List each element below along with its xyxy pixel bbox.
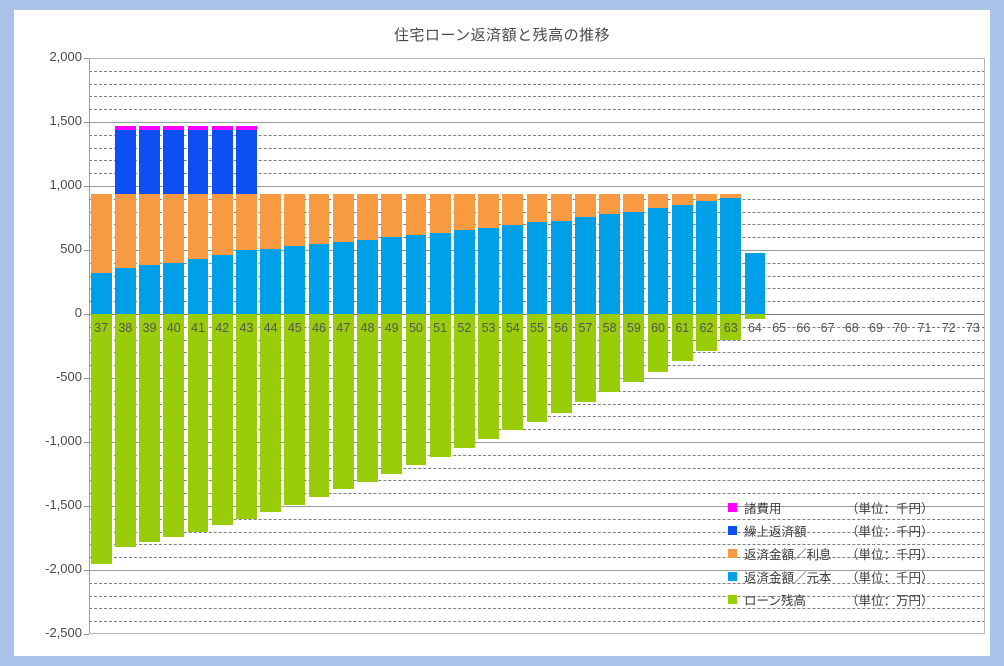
bar-segment-balance: [284, 314, 305, 505]
x-axis-tick-label: 45: [283, 321, 307, 335]
bar-segment-principal: [527, 222, 548, 314]
x-axis-tick-label: 48: [355, 321, 379, 335]
x-axis-tick-label: 68: [840, 321, 864, 335]
bar-segment-principal: [260, 249, 281, 314]
x-axis-tick-label: 52: [452, 321, 476, 335]
x-axis-tick-label: 57: [573, 321, 597, 335]
bar-column[interactable]: [696, 58, 717, 634]
bar-segment-interest: [454, 194, 475, 230]
bar-segment-cost: [139, 126, 160, 130]
bar-segment-balance: [260, 314, 281, 512]
bar-segment-balance: [163, 314, 184, 537]
x-axis-tick-label: 46: [307, 321, 331, 335]
x-axis-tick-label: 41: [186, 321, 210, 335]
bar-column[interactable]: [309, 58, 330, 634]
bar-segment-interest: [648, 194, 669, 209]
x-axis-tick-label: 42: [210, 321, 234, 335]
bar-segment-interest: [212, 194, 233, 255]
legend-unit: （単位：千円）: [846, 544, 934, 563]
bar-segment-cost: [212, 126, 233, 130]
bar-column[interactable]: [284, 58, 305, 634]
legend-unit: （単位：万円）: [846, 590, 934, 609]
bar-column[interactable]: [962, 58, 983, 634]
y-axis-tick-mark: [84, 250, 89, 251]
bar-segment-principal: [115, 268, 136, 314]
bar-segment-balance: [115, 314, 136, 547]
legend-swatch-icon: [728, 526, 737, 535]
bar-segment-principal: [212, 255, 233, 314]
x-axis-tick-label: 40: [162, 321, 186, 335]
y-axis-tick-mark: [84, 314, 89, 315]
x-axis-tick-label: 62: [694, 321, 718, 335]
bar-segment-interest: [672, 194, 693, 206]
bar-segment-interest: [236, 194, 257, 250]
bar-segment-principal: [672, 205, 693, 314]
y-axis-tick-mark: [84, 58, 89, 59]
bar-column[interactable]: [575, 58, 596, 634]
bar-segment-principal: [188, 259, 209, 314]
bar-segment-interest: [260, 194, 281, 249]
bar-segment-balance: [333, 314, 354, 489]
bar-segment-interest: [91, 194, 112, 273]
bar-column[interactable]: [91, 58, 112, 634]
legend-swatch-icon: [728, 503, 737, 512]
bar-segment-interest: [430, 194, 451, 232]
bar-segment-prepay: [163, 130, 184, 194]
legend-unit: （単位：千円）: [846, 498, 934, 517]
x-axis-tick-label: 43: [234, 321, 258, 335]
x-axis-tick-label: 51: [428, 321, 452, 335]
bar-segment-principal: [648, 208, 669, 314]
bar-column[interactable]: [938, 58, 959, 634]
bar-column[interactable]: [623, 58, 644, 634]
x-axis-tick-label: 67: [815, 321, 839, 335]
y-axis-tick-label: -2,000: [14, 561, 82, 576]
bar-column[interactable]: [406, 58, 427, 634]
y-axis-tick-label: 0: [14, 305, 82, 320]
x-axis-tick-label: 63: [719, 321, 743, 335]
bar-segment-interest: [575, 194, 596, 218]
legend-item: 返済金額／元本（単位：千円）: [728, 565, 934, 588]
bar-segment-balance: [745, 314, 766, 319]
bar-segment-principal: [333, 242, 354, 314]
bar-segment-principal: [478, 228, 499, 314]
x-axis-tick-label: 73: [961, 321, 985, 335]
y-axis-tick-mark: [84, 442, 89, 443]
y-axis-tick-label: -500: [14, 369, 82, 384]
bar-column[interactable]: [672, 58, 693, 634]
x-axis-tick-label: 56: [549, 321, 573, 335]
bar-segment-principal: [720, 198, 741, 314]
bar-segment-interest: [357, 194, 378, 240]
bar-segment-interest: [527, 194, 548, 223]
bar-segment-balance: [212, 314, 233, 525]
bar-segment-prepay: [188, 130, 209, 194]
legend-item: ローン残高（単位：万円）: [728, 588, 934, 611]
x-axis-tick-label: 65: [767, 321, 791, 335]
x-axis-tick-label: 54: [501, 321, 525, 335]
x-axis-tick-label: 53: [476, 321, 500, 335]
y-axis-tick-label: 1,500: [14, 113, 82, 128]
legend-swatch-icon: [728, 572, 737, 581]
bar-segment-interest: [599, 194, 620, 214]
bar-segment-interest: [333, 194, 354, 243]
bar-segment-principal: [381, 237, 402, 314]
bar-segment-interest: [115, 194, 136, 268]
bar-column[interactable]: [527, 58, 548, 634]
x-axis-tick-label: 39: [137, 321, 161, 335]
bar-segment-cost: [163, 126, 184, 130]
bar-segment-prepay: [236, 130, 257, 194]
bar-segment-principal: [91, 273, 112, 314]
x-axis-tick-label: 66: [791, 321, 815, 335]
legend-label: 繰上返済額: [744, 521, 846, 540]
bar-segment-interest: [309, 194, 330, 244]
chart-legend: 諸費用（単位：千円）繰上返済額（単位：千円）返済金額／利息（単位：千円）返済金額…: [728, 496, 934, 611]
chart-title: 住宅ローン返済額と残高の推移: [14, 24, 990, 45]
bar-segment-interest: [284, 194, 305, 246]
bar-segment-principal: [357, 240, 378, 314]
bar-column[interactable]: [599, 58, 620, 634]
bar-segment-principal: [430, 233, 451, 314]
bar-segment-balance: [139, 314, 160, 542]
bar-segment-interest: [478, 194, 499, 228]
bar-column[interactable]: [502, 58, 523, 634]
legend-label: 返済金額／利息: [744, 544, 846, 563]
bar-segment-principal: [575, 217, 596, 314]
bar-segment-interest: [696, 194, 717, 202]
x-axis-tick-label: 72: [937, 321, 961, 335]
bar-segment-principal: [309, 244, 330, 314]
bar-segment-interest: [381, 194, 402, 238]
legend-label: ローン残高: [744, 590, 846, 609]
bar-segment-interest: [623, 194, 644, 212]
x-axis-tick-label: 37: [89, 321, 113, 335]
x-axis-tick-label: 59: [622, 321, 646, 335]
chart-frame: 住宅ローン返済額と残高の推移 -2,500-2,000-1,500-1,000-…: [14, 10, 990, 656]
x-axis-tick-label: 61: [670, 321, 694, 335]
bar-segment-balance: [309, 314, 330, 497]
legend-swatch-icon: [728, 595, 737, 604]
x-axis-tick-label: 38: [113, 321, 137, 335]
x-axis-tick-label: 44: [259, 321, 283, 335]
x-axis-tick-label: 49: [380, 321, 404, 335]
bar-segment-interest: [139, 194, 160, 266]
x-axis-tick-label: 69: [864, 321, 888, 335]
legend-item: 返済金額／利息（単位：千円）: [728, 542, 934, 565]
bar-segment-interest: [502, 194, 523, 225]
legend-unit: （単位：千円）: [846, 521, 934, 540]
legend-item: 諸費用（単位：千円）: [728, 496, 934, 519]
bar-segment-balance: [406, 314, 427, 465]
y-axis-tick-label: 2,000: [14, 49, 82, 64]
bar-segment-principal: [696, 201, 717, 314]
bar-segment-prepay: [115, 130, 136, 194]
bar-segment-balance: [381, 314, 402, 474]
bar-segment-prepay: [139, 130, 160, 194]
bar-segment-principal: [284, 246, 305, 314]
x-axis-tick-label: 47: [331, 321, 355, 335]
bar-segment-principal: [139, 265, 160, 314]
bar-column[interactable]: [357, 58, 378, 634]
legend-item: 繰上返済額（単位：千円）: [728, 519, 934, 542]
bar-segment-balance: [91, 314, 112, 564]
y-axis-tick-mark: [84, 570, 89, 571]
x-axis-tick-label: 71: [912, 321, 936, 335]
bar-segment-balance: [430, 314, 451, 457]
bar-column[interactable]: [139, 58, 160, 634]
bar-segment-principal: [745, 253, 766, 314]
bar-column[interactable]: [163, 58, 184, 634]
bar-segment-principal: [236, 250, 257, 314]
y-axis-line: [89, 58, 90, 634]
bar-column[interactable]: [430, 58, 451, 634]
bar-column[interactable]: [115, 58, 136, 634]
bar-segment-principal: [623, 212, 644, 314]
bar-segment-principal: [163, 263, 184, 314]
bar-segment-principal: [551, 221, 572, 314]
bar-segment-cost: [236, 126, 257, 130]
y-axis-tick-label: -1,500: [14, 497, 82, 512]
bar-segment-principal: [406, 235, 427, 314]
x-axis-tick-label: 55: [525, 321, 549, 335]
legend-unit: （単位：千円）: [846, 567, 934, 586]
bar-column[interactable]: [454, 58, 475, 634]
y-axis-tick-label: -1,000: [14, 433, 82, 448]
x-axis-tick-label: 58: [598, 321, 622, 335]
bar-segment-prepay: [212, 130, 233, 194]
y-axis-tick-label: 1,000: [14, 177, 82, 192]
bar-segment-principal: [599, 214, 620, 314]
bar-column[interactable]: [381, 58, 402, 634]
bar-segment-cost: [188, 126, 209, 130]
bar-column[interactable]: [212, 58, 233, 634]
bar-segment-principal: [502, 225, 523, 314]
y-axis-tick-label: 500: [14, 241, 82, 256]
bar-column[interactable]: [333, 58, 354, 634]
bar-segment-interest: [551, 194, 572, 221]
bar-column[interactable]: [236, 58, 257, 634]
bar-column[interactable]: [648, 58, 669, 634]
y-axis-tick-mark: [84, 186, 89, 187]
bar-column[interactable]: [188, 58, 209, 634]
x-axis-tick-label: 64: [743, 321, 767, 335]
bar-segment-interest: [188, 194, 209, 259]
bar-segment-balance: [236, 314, 257, 519]
bar-segment-cost: [115, 126, 136, 130]
bar-segment-principal: [454, 230, 475, 314]
x-axis-tick-label: 70: [888, 321, 912, 335]
y-axis-tick-label: -2,500: [14, 625, 82, 640]
x-axis-tick-label: 50: [404, 321, 428, 335]
y-axis-tick-mark: [84, 634, 89, 635]
y-axis-tick-mark: [84, 378, 89, 379]
bar-column[interactable]: [551, 58, 572, 634]
bar-segment-interest: [163, 194, 184, 263]
legend-label: 返済金額／元本: [744, 567, 846, 586]
x-axis-tick-label: 60: [646, 321, 670, 335]
bar-segment-balance: [357, 314, 378, 482]
bar-column[interactable]: [260, 58, 281, 634]
legend-swatch-icon: [728, 549, 737, 558]
legend-label: 諸費用: [744, 498, 846, 517]
bar-column[interactable]: [478, 58, 499, 634]
y-axis-tick-mark: [84, 506, 89, 507]
bar-segment-balance: [188, 314, 209, 532]
bar-segment-interest: [406, 194, 427, 235]
bar-segment-interest: [720, 194, 741, 198]
y-axis-tick-mark: [84, 122, 89, 123]
